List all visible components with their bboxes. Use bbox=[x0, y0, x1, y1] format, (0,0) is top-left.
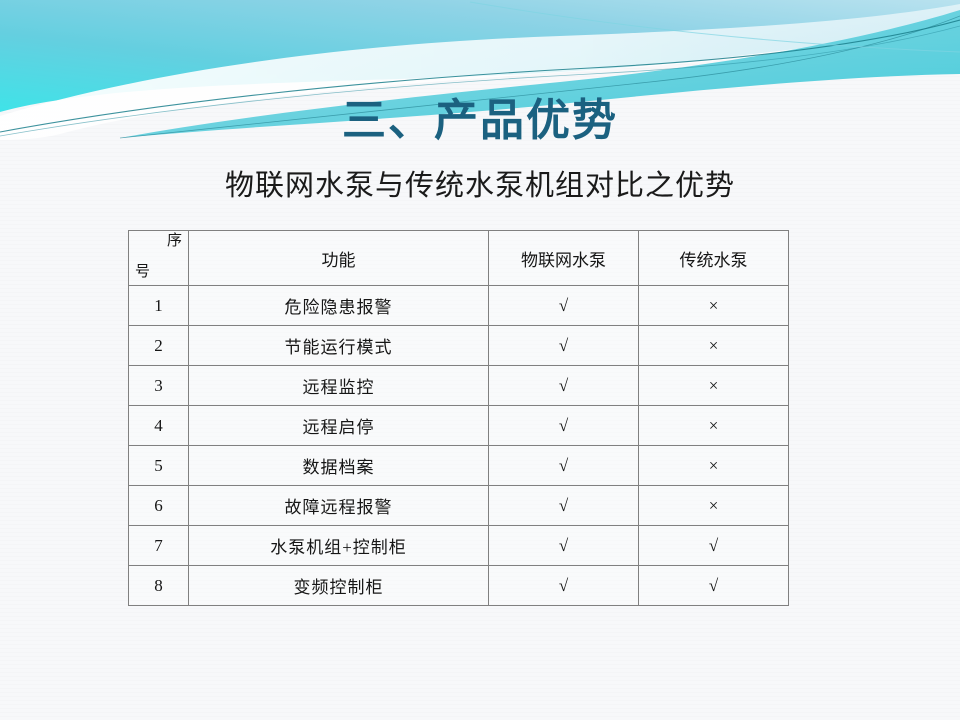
column-header-function: 功能 bbox=[189, 231, 489, 286]
row-index: 4 bbox=[129, 406, 189, 446]
column-header-traditional-pump: 传统水泵 bbox=[639, 231, 789, 286]
row-function: 水泵机组+控制柜 bbox=[189, 526, 489, 566]
row-iot-mark: √ bbox=[489, 486, 639, 526]
row-function: 节能运行模式 bbox=[189, 326, 489, 366]
row-function: 故障远程报警 bbox=[189, 486, 489, 526]
table-body: 1 危险隐患报警 √ × 2 节能运行模式 √ × 3 远程监控 √ × 4 远… bbox=[129, 286, 789, 606]
row-traditional-mark: × bbox=[639, 286, 789, 326]
table-row: 5 数据档案 √ × bbox=[129, 446, 789, 486]
row-index: 5 bbox=[129, 446, 189, 486]
table-row: 8 变频控制柜 √ √ bbox=[129, 566, 789, 606]
row-traditional-mark: × bbox=[639, 406, 789, 446]
row-traditional-mark: √ bbox=[639, 526, 789, 566]
column-header-iot-pump: 物联网水泵 bbox=[489, 231, 639, 286]
row-function: 数据档案 bbox=[189, 446, 489, 486]
page-title: 三、产品优势 bbox=[0, 84, 960, 148]
table-row: 1 危险隐患报警 √ × bbox=[129, 286, 789, 326]
row-index: 1 bbox=[129, 286, 189, 326]
row-iot-mark: √ bbox=[489, 286, 639, 326]
row-function: 危险隐患报警 bbox=[189, 286, 489, 326]
row-index: 6 bbox=[129, 486, 189, 526]
row-traditional-mark: √ bbox=[639, 566, 789, 606]
row-index: 3 bbox=[129, 366, 189, 406]
row-iot-mark: √ bbox=[489, 366, 639, 406]
row-index: 8 bbox=[129, 566, 189, 606]
comparison-table: 序 号 功能 物联网水泵 传统水泵 1 危险隐患报警 √ × 2 节能运行模式 … bbox=[128, 230, 789, 606]
row-traditional-mark: × bbox=[639, 366, 789, 406]
row-traditional-mark: × bbox=[639, 486, 789, 526]
column-header-index: 序 号 bbox=[129, 231, 189, 286]
row-function: 变频控制柜 bbox=[189, 566, 489, 606]
table-row: 3 远程监控 √ × bbox=[129, 366, 789, 406]
table-header-row: 序 号 功能 物联网水泵 传统水泵 bbox=[129, 231, 789, 286]
row-iot-mark: √ bbox=[489, 326, 639, 366]
table-row: 2 节能运行模式 √ × bbox=[129, 326, 789, 366]
row-index: 2 bbox=[129, 326, 189, 366]
row-traditional-mark: × bbox=[639, 326, 789, 366]
row-index: 7 bbox=[129, 526, 189, 566]
column-header-index-top: 序 bbox=[167, 234, 182, 249]
presentation-slide: 三、产品优势 物联网水泵与传统水泵机组对比之优势 序 号 功能 物联网水泵 传统… bbox=[0, 0, 960, 720]
column-header-index-bottom: 号 bbox=[135, 265, 150, 280]
table-header: 序 号 功能 物联网水泵 传统水泵 bbox=[129, 231, 789, 286]
row-iot-mark: √ bbox=[489, 406, 639, 446]
row-function: 远程启停 bbox=[189, 406, 489, 446]
table-row: 6 故障远程报警 √ × bbox=[129, 486, 789, 526]
row-iot-mark: √ bbox=[489, 566, 639, 606]
table-row: 4 远程启停 √ × bbox=[129, 406, 789, 446]
row-iot-mark: √ bbox=[489, 446, 639, 486]
row-iot-mark: √ bbox=[489, 526, 639, 566]
table-row: 7 水泵机组+控制柜 √ √ bbox=[129, 526, 789, 566]
row-traditional-mark: × bbox=[639, 446, 789, 486]
row-function: 远程监控 bbox=[189, 366, 489, 406]
page-subtitle: 物联网水泵与传统水泵机组对比之优势 bbox=[0, 162, 960, 204]
